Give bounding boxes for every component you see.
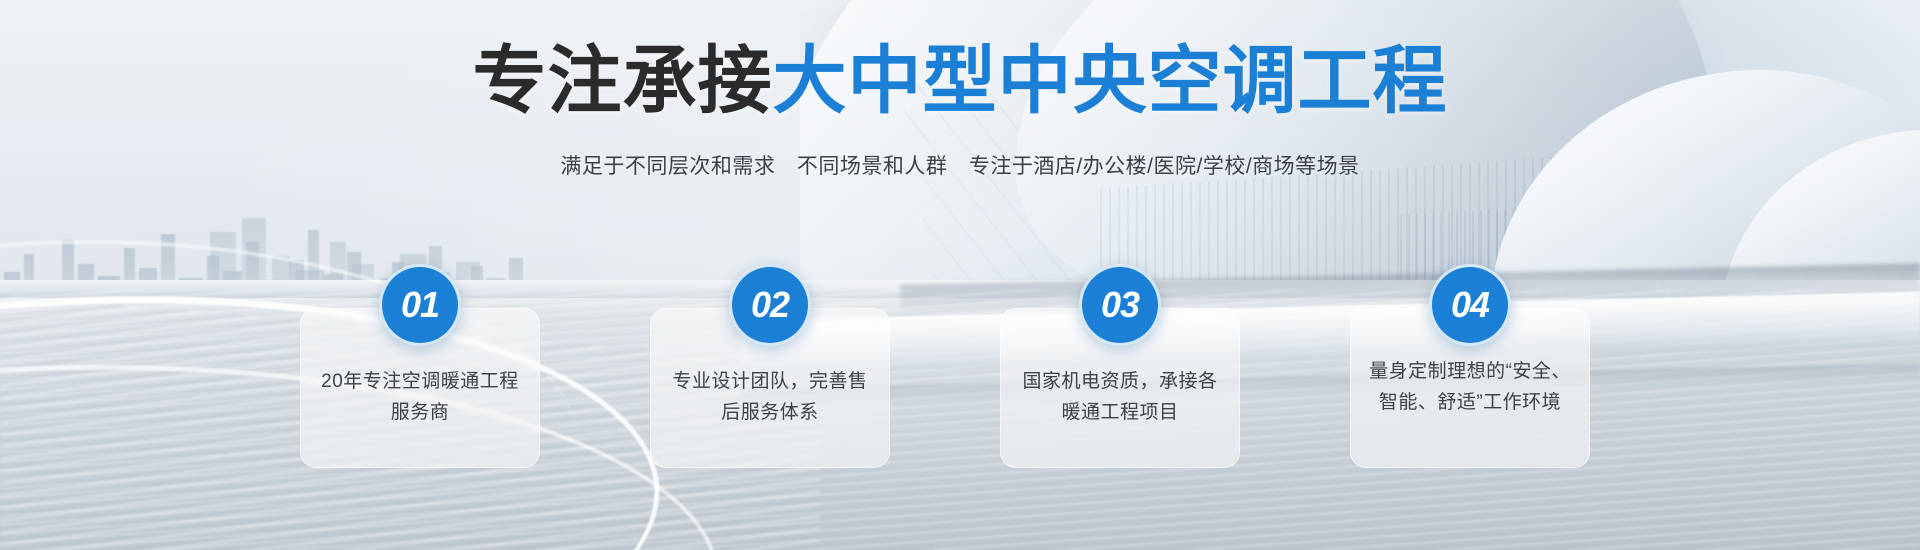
feature-card-03[interactable]: 03 国家机电资质，承接各暖通工程项目 (1000, 308, 1240, 468)
feature-card-list: 01 20年专注空调暖通工程服务商 02 专业设计团队，完善售后服务体系 03 … (300, 264, 1590, 464)
card-text-01: 20年专注空调暖通工程服务商 (314, 366, 526, 428)
banner-headline: 专注承接大中型中央空调工程 (0, 42, 1920, 120)
card-number-badge-01: 01 (379, 264, 461, 346)
feature-card-04[interactable]: 04 量身定制理想的“安全、智能、舒适”工作环境 (1350, 308, 1590, 468)
card-number-badge-03: 03 (1079, 264, 1161, 346)
promo-banner: 专注承接大中型中央空调工程 满足于不同层次和需求 不同场景和人群 专注于酒店/办… (0, 0, 1920, 550)
card-text-03: 国家机电资质，承接各暖通工程项目 (1014, 366, 1226, 428)
card-number-badge-02: 02 (729, 264, 811, 346)
card-number-badge-04: 04 (1429, 264, 1511, 346)
banner-subtitle: 满足于不同层次和需求 不同场景和人群 专注于酒店/办公楼/医院/学校/商场等场景 (0, 152, 1920, 182)
feature-card-02[interactable]: 02 专业设计团队，完善售后服务体系 (650, 308, 890, 468)
card-number-01: 01 (401, 284, 439, 326)
card-number-03: 03 (1101, 284, 1139, 326)
card-text-02: 专业设计团队，完善售后服务体系 (664, 366, 876, 428)
headline-part-dark: 专注承接 (473, 39, 773, 122)
feature-card-01[interactable]: 01 20年专注空调暖通工程服务商 (300, 308, 540, 468)
card-number-02: 02 (751, 284, 789, 326)
card-number-04: 04 (1451, 284, 1489, 326)
card-text-04: 量身定制理想的“安全、智能、舒适”工作环境 (1364, 356, 1576, 418)
headline-part-highlight: 大中型中央空调工程 (773, 39, 1448, 122)
